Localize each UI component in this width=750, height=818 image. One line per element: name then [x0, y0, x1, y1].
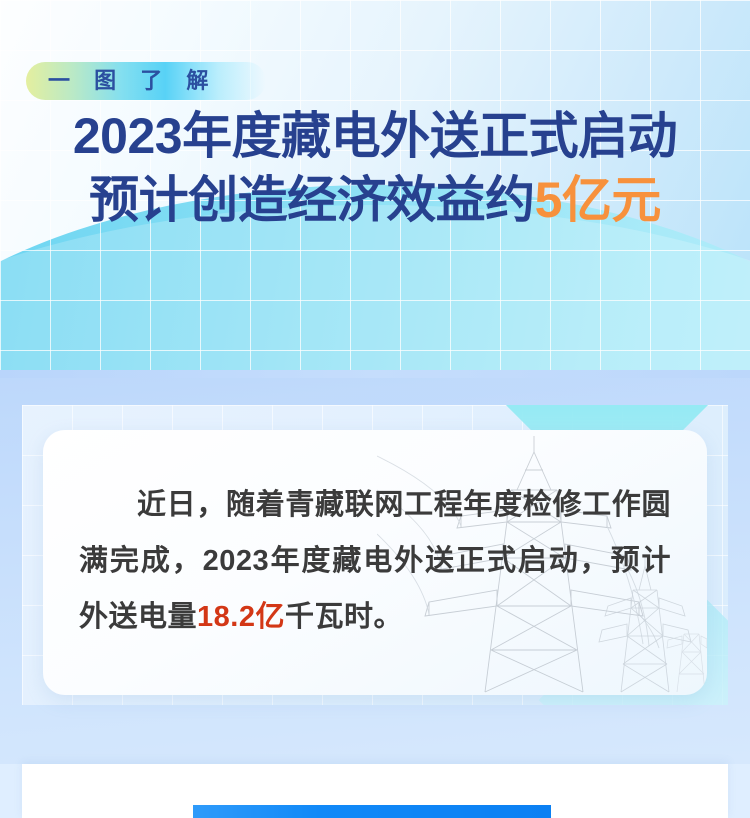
title-highlight-amount: 5亿元 — [535, 172, 661, 228]
title-line-2: 预计创造经济效益约5亿元 — [0, 168, 750, 232]
page-title: 2023年度藏电外送正式启动 预计创造经济效益约5亿元 — [0, 104, 750, 232]
infographic-page: 一 图 了 解 2023年度藏电外送正式启动 预计创造经济效益约5亿元 — [0, 0, 750, 818]
paragraph-text-part2: 千瓦时。 — [285, 601, 403, 633]
paragraph-highlight-volume: 18.2亿 — [197, 601, 285, 633]
bottom-blue-bar — [193, 805, 551, 818]
eyebrow-badge-label: 一 图 了 解 — [48, 68, 217, 94]
title-line-1-text: 2023年度藏电外送正式启动 — [73, 108, 677, 164]
title-line-2-text: 预计创造经济效益约 — [89, 172, 535, 228]
title-line-1: 2023年度藏电外送正式启动 — [0, 104, 750, 168]
content-paragraph: 近日，随着青藏联网工程年度检修工作圆满完成，2023年度藏电外送正式启动，预计外… — [43, 477, 707, 645]
hero-bottom-band — [0, 370, 750, 378]
